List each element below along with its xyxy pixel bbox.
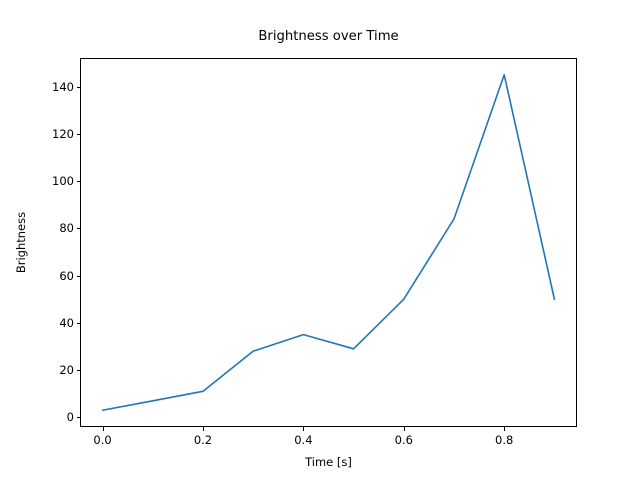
x-tick-mark: [203, 427, 204, 431]
y-tick-mark: [77, 134, 81, 135]
y-tick-label: 120: [36, 127, 74, 141]
x-axis-label: Time [s]: [80, 455, 577, 469]
y-tick-label: 40: [36, 316, 74, 330]
y-tick-label: 140: [36, 80, 74, 94]
line-plot-area: [80, 58, 577, 427]
y-tick-label: 0: [36, 410, 74, 424]
x-tick-label: 0.0: [93, 433, 111, 447]
y-tick-mark: [77, 228, 81, 229]
y-tick-label: 100: [36, 174, 74, 188]
y-tick-mark: [77, 370, 81, 371]
x-tick-label: 0.2: [194, 433, 212, 447]
y-tick-label: 60: [36, 269, 74, 283]
y-axis-label: Brightness: [14, 58, 30, 427]
y-tick-label: 20: [36, 363, 74, 377]
series-brightness-line: [103, 75, 555, 410]
y-tick-mark: [77, 276, 81, 277]
y-tick-mark: [77, 417, 81, 418]
x-tick-mark: [404, 427, 405, 431]
y-tick-mark: [77, 323, 81, 324]
y-tick-label: 80: [36, 221, 74, 235]
chart-title: Brightness over Time: [80, 29, 577, 44]
x-tick-mark: [504, 427, 505, 431]
x-tick-label: 0.4: [294, 433, 312, 447]
figure-canvas: Brightness over Time 0.00.20.40.60.8 020…: [0, 0, 640, 480]
x-tick-label: 0.6: [395, 433, 413, 447]
x-tick-label: 0.8: [495, 433, 513, 447]
x-tick-mark: [303, 427, 304, 431]
y-tick-mark: [77, 87, 81, 88]
x-tick-mark: [103, 427, 104, 431]
y-tick-mark: [77, 181, 81, 182]
